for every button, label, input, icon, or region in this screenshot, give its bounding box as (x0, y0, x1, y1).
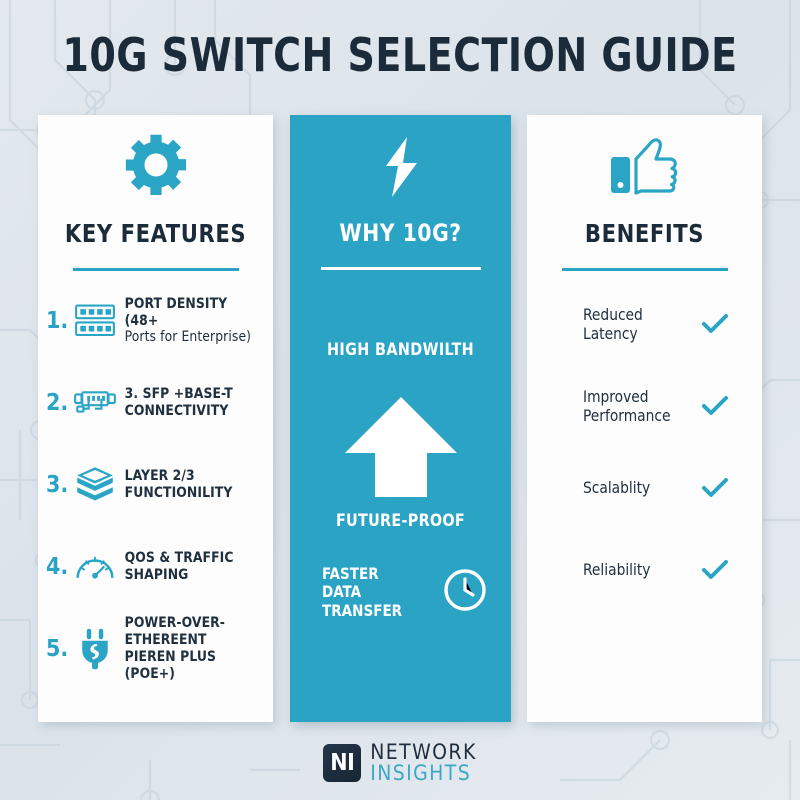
faster-data-transfer-text: FASTER DATA TRANSFER (322, 565, 423, 620)
benefit-line-2: Performance (583, 406, 670, 425)
page-title: 10G SWITCH SELECTION GUIDE (32, 28, 768, 82)
list-item[interactable]: 3. LAYER 2/3 FUNCTIONILITY (38, 444, 273, 526)
key-features-list: 1. PORT DENSITY (48+ Po (38, 280, 273, 690)
feature-number: 3. (46, 472, 72, 498)
benefit-line-1: Scalablity (583, 478, 650, 497)
check-icon (700, 559, 730, 581)
feature-number: 5. (46, 636, 72, 662)
feature-line-1: PORT DENSITY (48+ (125, 296, 228, 329)
feature-text: 3. SFP +BASE-T CONNECTIVITY (118, 386, 265, 420)
list-item[interactable]: 1. PORT DENSITY (48+ Po (38, 280, 273, 362)
gear-icon (38, 115, 273, 197)
gauge-icon (72, 551, 118, 583)
feature-number: 2. (46, 390, 72, 416)
benefits-heading: BENEFITS (534, 219, 755, 248)
list-item[interactable]: 2. 3. (38, 362, 273, 444)
logo-mark: NI (323, 744, 361, 782)
benefits-card: BENEFITS Reduced Latency Improved Perfor… (527, 115, 762, 722)
logo-word-insights: INSIGHTS (370, 763, 476, 784)
check-icon (700, 313, 730, 335)
check-icon (700, 395, 730, 417)
logo-word-network: NETWORK (370, 742, 476, 763)
key-features-card: KEY FEATURES 1. (38, 115, 273, 722)
feature-line-1: POWER-OVER-ETHEREENT (125, 615, 225, 648)
benefit-text: Reliability (583, 560, 695, 579)
feature-text: POWER-OVER-ETHEREENT PIEREN PLUS (POE+) (118, 615, 265, 682)
benefit-line-2: Latency (583, 324, 638, 343)
benefit-text: Improved Performance (583, 387, 695, 425)
feature-line-1: QOS & TRAFFIC SHAPING (125, 550, 234, 583)
right-divider (562, 268, 728, 271)
feature-line-2: PIEREN PLUS (POE+) (125, 649, 264, 683)
thumbs-up-icon (527, 115, 762, 197)
future-proof-label: FUTURE-PROOF (297, 511, 505, 531)
feature-line-2: Ports for Enterprise) (125, 329, 264, 346)
power-plug-icon (72, 627, 118, 671)
up-arrow-icon (290, 395, 511, 499)
why-10g-card: WHY 10G? HIGH BANDWILTH FUTURE-PROOF FAS… (290, 115, 511, 722)
clock-icon (443, 568, 487, 617)
list-item[interactable]: Reliability (527, 529, 762, 611)
feature-line-1: LAYER 2/3 (125, 468, 195, 484)
high-bandwidth-label: HIGH BANDWILTH (297, 340, 505, 360)
layers-stack-icon (72, 465, 118, 505)
ethernet-ports-icon (72, 303, 118, 339)
benefit-text: Reduced Latency (583, 305, 695, 343)
benefit-text: Scalablity (583, 478, 695, 497)
feature-text: PORT DENSITY (48+ Ports for Enterprise) (118, 296, 265, 346)
feature-text: LAYER 2/3 FUNCTIONILITY (118, 468, 265, 502)
benefit-line-1: Reliability (583, 560, 650, 579)
center-content: HIGH BANDWILTH FUTURE-PROOF FASTER DATA … (290, 115, 511, 722)
feature-number: 1. (46, 308, 72, 334)
list-item[interactable]: Reduced Latency (527, 283, 762, 365)
feature-number: 4. (46, 554, 72, 580)
list-item[interactable]: Scalablity (527, 447, 762, 529)
faster-line-2: DATA TRANSFER (322, 582, 402, 619)
faster-data-transfer-block: FASTER DATA TRANSFER (322, 565, 487, 620)
list-item[interactable]: 4. QOS & TRAFFIC SHAPING (38, 526, 273, 608)
check-icon (700, 477, 730, 499)
faster-line-1: FASTER (322, 564, 379, 583)
footer-logo: NI NETWORK INSIGHTS (0, 742, 800, 784)
benefit-line-1: Reduced (583, 305, 643, 324)
logo-wordmark: NETWORK INSIGHTS (370, 742, 476, 784)
benefits-list: Reduced Latency Improved Performance (527, 283, 762, 611)
benefit-line-1: Improved (583, 387, 649, 406)
feature-line-1: 3. SFP +BASE-T (125, 386, 233, 402)
left-divider (73, 268, 239, 271)
feature-line-2: CONNECTIVITY (125, 403, 264, 420)
list-item[interactable]: Improved Performance (527, 365, 762, 447)
feature-line-2: FUNCTIONILITY (125, 485, 264, 502)
key-features-heading: KEY FEATURES (45, 219, 266, 248)
sfp-module-icon (72, 385, 118, 421)
list-item[interactable]: 5. POWER-OVER-ETHEREENT PIEREN PLUS (POE… (38, 608, 273, 690)
feature-text: QOS & TRAFFIC SHAPING (118, 550, 265, 584)
